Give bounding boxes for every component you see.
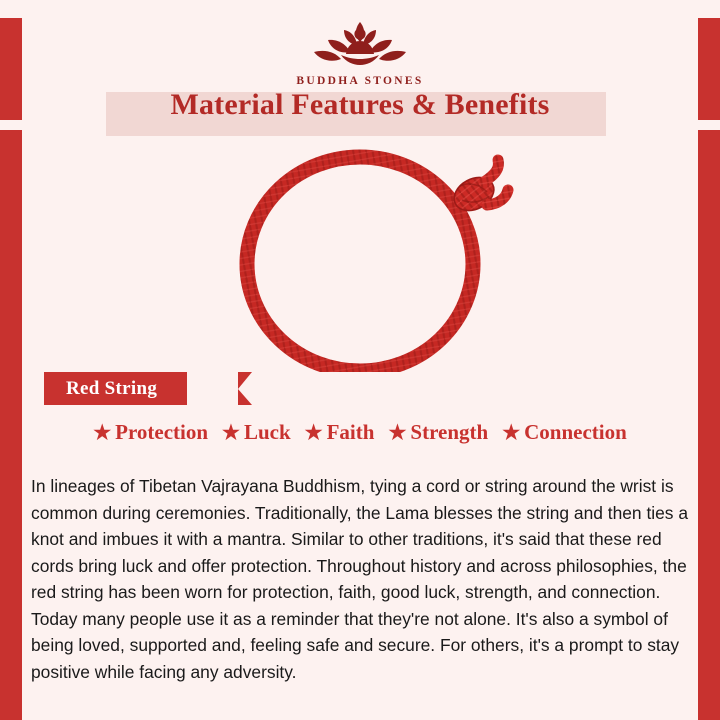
lotus-meditation-icon <box>300 14 420 72</box>
benefit-item-faith: ★ Faith <box>298 420 382 445</box>
star-icon: ★ <box>305 423 323 443</box>
material-label-ribbon: Red String <box>44 372 187 405</box>
benefit-label: Luck <box>244 420 291 445</box>
page-title: Material Features & Benefits <box>22 88 698 122</box>
brand-logo: BUDDHA STONES <box>22 14 698 87</box>
product-image <box>22 142 698 372</box>
benefit-label: Faith <box>327 420 375 445</box>
star-icon: ★ <box>502 423 520 443</box>
benefit-item-luck: ★ Luck <box>215 420 298 445</box>
infographic-page: BUDDHA STONES Material Features & Benefi… <box>0 0 720 720</box>
star-icon: ★ <box>93 423 111 443</box>
benefit-item-protection: ★ Protection <box>86 420 215 445</box>
material-label-text: Red String <box>66 378 157 400</box>
benefit-item-strength: ★ Strength <box>381 420 495 445</box>
benefit-label: Connection <box>524 420 627 445</box>
left-decorative-bar <box>0 0 22 720</box>
benefit-item-connection: ★ Connection <box>495 420 634 445</box>
star-icon: ★ <box>222 423 240 443</box>
ribbon-tail <box>238 372 252 405</box>
content-area: BUDDHA STONES Material Features & Benefi… <box>22 0 698 720</box>
benefit-label: Protection <box>115 420 208 445</box>
brand-name: BUDDHA STONES <box>22 75 698 87</box>
star-icon: ★ <box>388 423 406 443</box>
red-braided-string-bracelet-icon <box>22 142 698 372</box>
benefit-label: Strength <box>410 420 488 445</box>
benefits-row: ★ Protection ★ Luck ★ Faith ★ Strength ★… <box>22 420 698 445</box>
description-paragraph: In lineages of Tibetan Vajrayana Buddhis… <box>25 473 707 685</box>
